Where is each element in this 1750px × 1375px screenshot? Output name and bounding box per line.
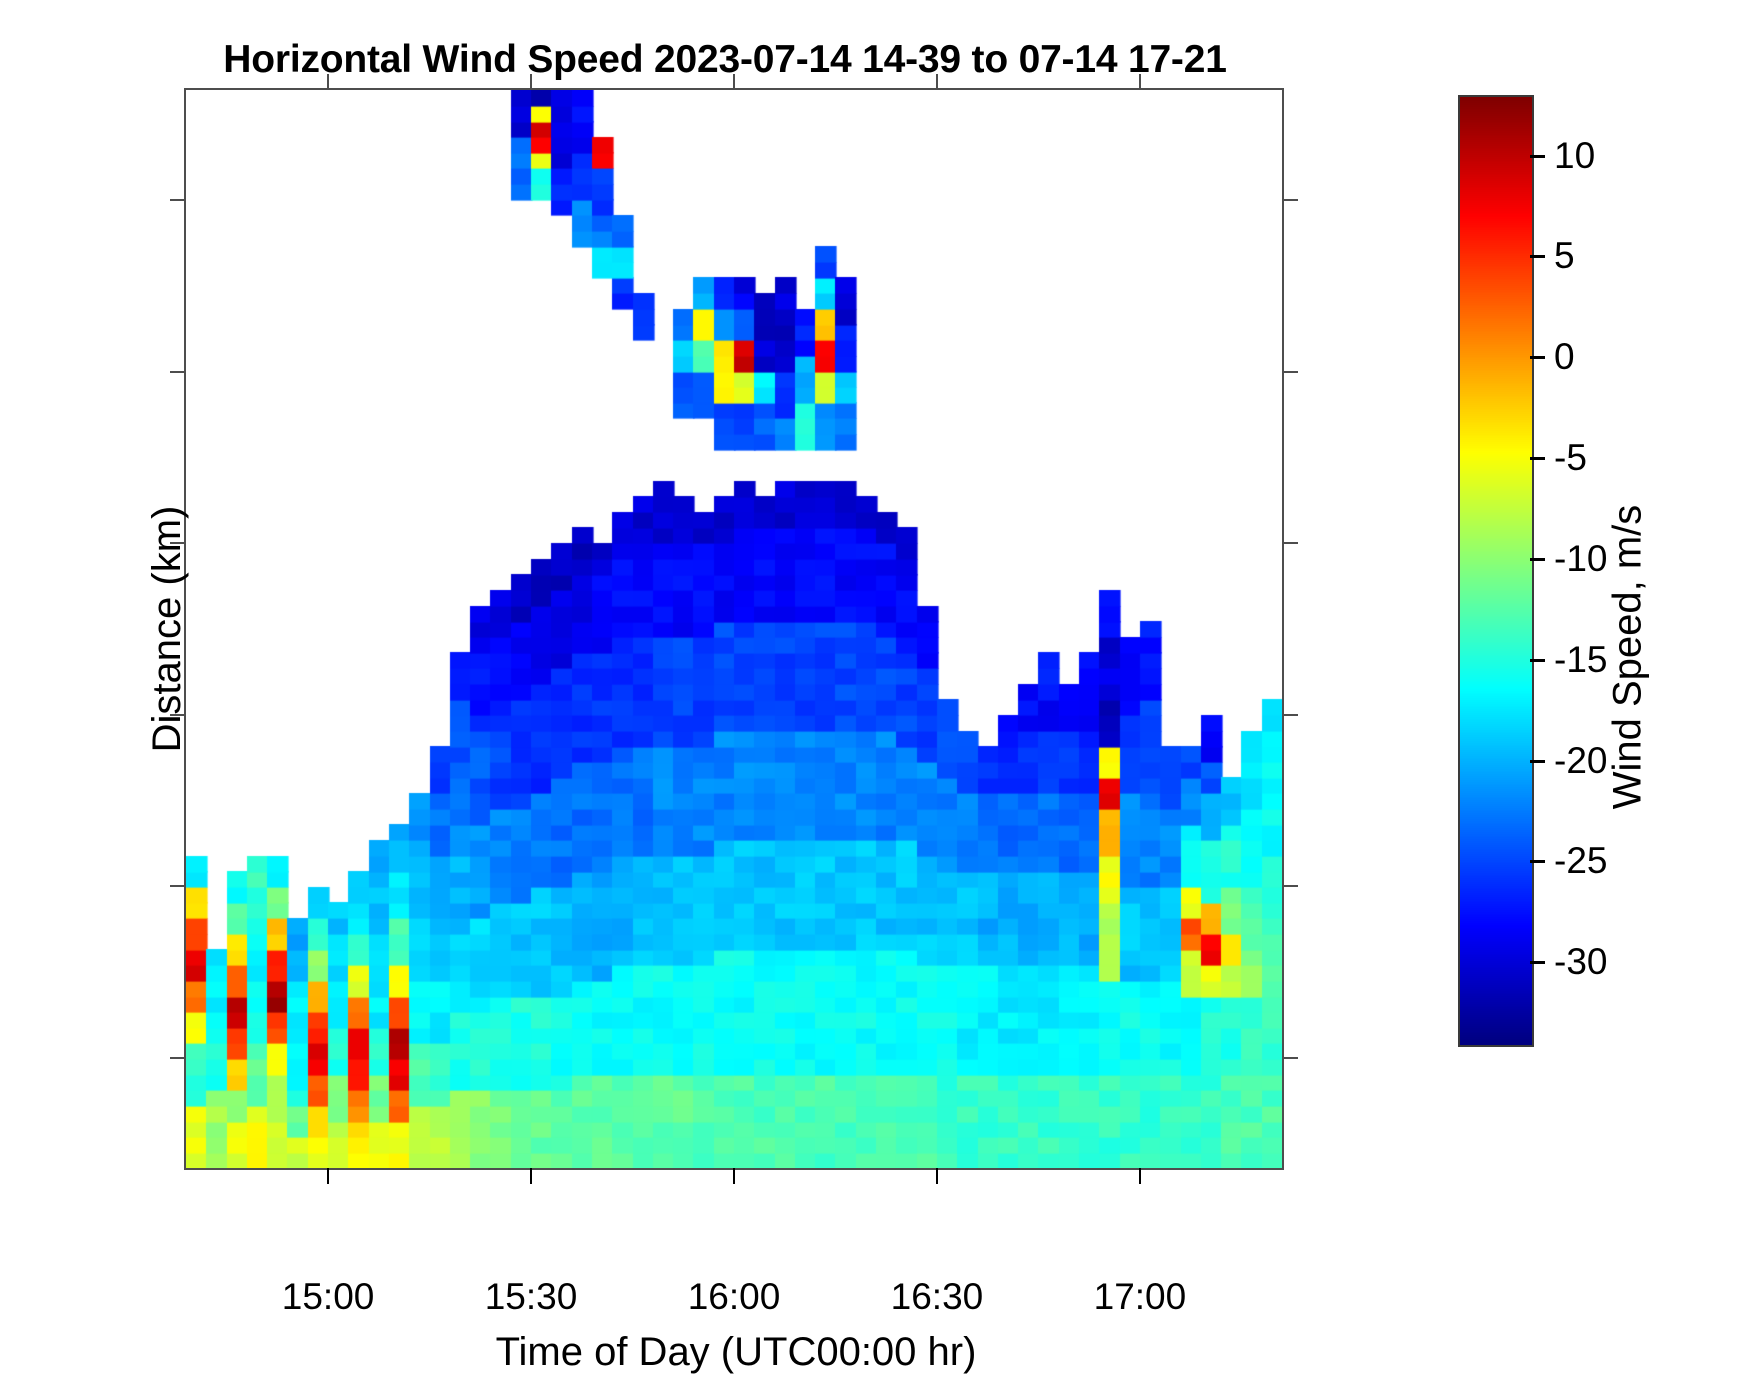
colorbar-tick-label: 10 [1554, 135, 1595, 177]
y-axis-tick-right [1282, 714, 1298, 716]
colorbar: 1050-5-10-15-20-25-30 [1458, 95, 1530, 1043]
x-axis-tick [936, 1168, 938, 1184]
colorbar-tick [1530, 558, 1545, 561]
colorbar-tick-label: -10 [1554, 538, 1607, 580]
y-axis-tick-right [1282, 199, 1298, 201]
x-axis-tick [733, 1168, 735, 1184]
x-axis-title: Time of Day (UTC00:00 hr) [186, 1330, 1286, 1375]
colorbar-tick [1530, 255, 1545, 258]
y-axis-tick [170, 714, 186, 716]
colorbar-tick [1530, 961, 1545, 964]
y-axis-tick-right [1282, 542, 1298, 544]
x-axis-tick [1139, 1168, 1141, 1184]
colorbar-tick [1530, 860, 1545, 863]
colorbar-tick [1530, 760, 1545, 763]
x-axis-tick-top [936, 74, 938, 90]
x-axis-tick [530, 1168, 532, 1184]
x-axis-tick-top [327, 74, 329, 90]
colorbar-tick-label: -30 [1554, 941, 1607, 983]
plot-area: Distance (km) Time of Day (UTC00:00 hr) … [184, 88, 1284, 1170]
heatmap-canvas[interactable] [186, 90, 1282, 1168]
y-axis-tick-right [1282, 371, 1298, 373]
y-axis-tick [170, 371, 186, 373]
y-axis-tick [170, 1057, 186, 1059]
y-axis-tick-right [1282, 1057, 1298, 1059]
colorbar-tick-label: -15 [1554, 639, 1607, 681]
colorbar-gradient [1458, 95, 1534, 1047]
chart-title: Horizontal Wind Speed 2023-07-14 14-39 t… [0, 38, 1450, 82]
y-axis-tick-right [1282, 885, 1298, 887]
figure-root: Horizontal Wind Speed 2023-07-14 14-39 t… [0, 0, 1750, 1313]
colorbar-tick-label: -25 [1554, 840, 1607, 882]
x-axis-tick-label: 16:00 [634, 1276, 834, 1318]
y-axis-tick [170, 199, 186, 201]
x-axis-tick-label: 15:30 [431, 1276, 631, 1318]
x-axis-tick [327, 1168, 329, 1184]
x-axis-tick-top [1139, 74, 1141, 90]
y-axis-tick [170, 542, 186, 544]
colorbar-tick [1530, 155, 1545, 158]
colorbar-tick [1530, 356, 1545, 359]
colorbar-tick-label: 0 [1554, 336, 1575, 378]
colorbar-tick-label: 5 [1554, 235, 1575, 277]
x-axis-tick-top [733, 74, 735, 90]
colorbar-title: Wind Speed, m/s [1606, 307, 1651, 1007]
colorbar-tick [1530, 457, 1545, 460]
colorbar-tick-label: -20 [1554, 740, 1607, 782]
x-axis-tick-label: 15:00 [228, 1276, 428, 1318]
x-axis-tick-top [530, 74, 532, 90]
x-axis-tick-label: 17:00 [1040, 1276, 1240, 1318]
x-axis-tick-label: 16:30 [837, 1276, 1037, 1318]
colorbar-tick-label: -5 [1554, 437, 1587, 479]
colorbar-tick [1530, 659, 1545, 662]
y-axis-tick [170, 885, 186, 887]
